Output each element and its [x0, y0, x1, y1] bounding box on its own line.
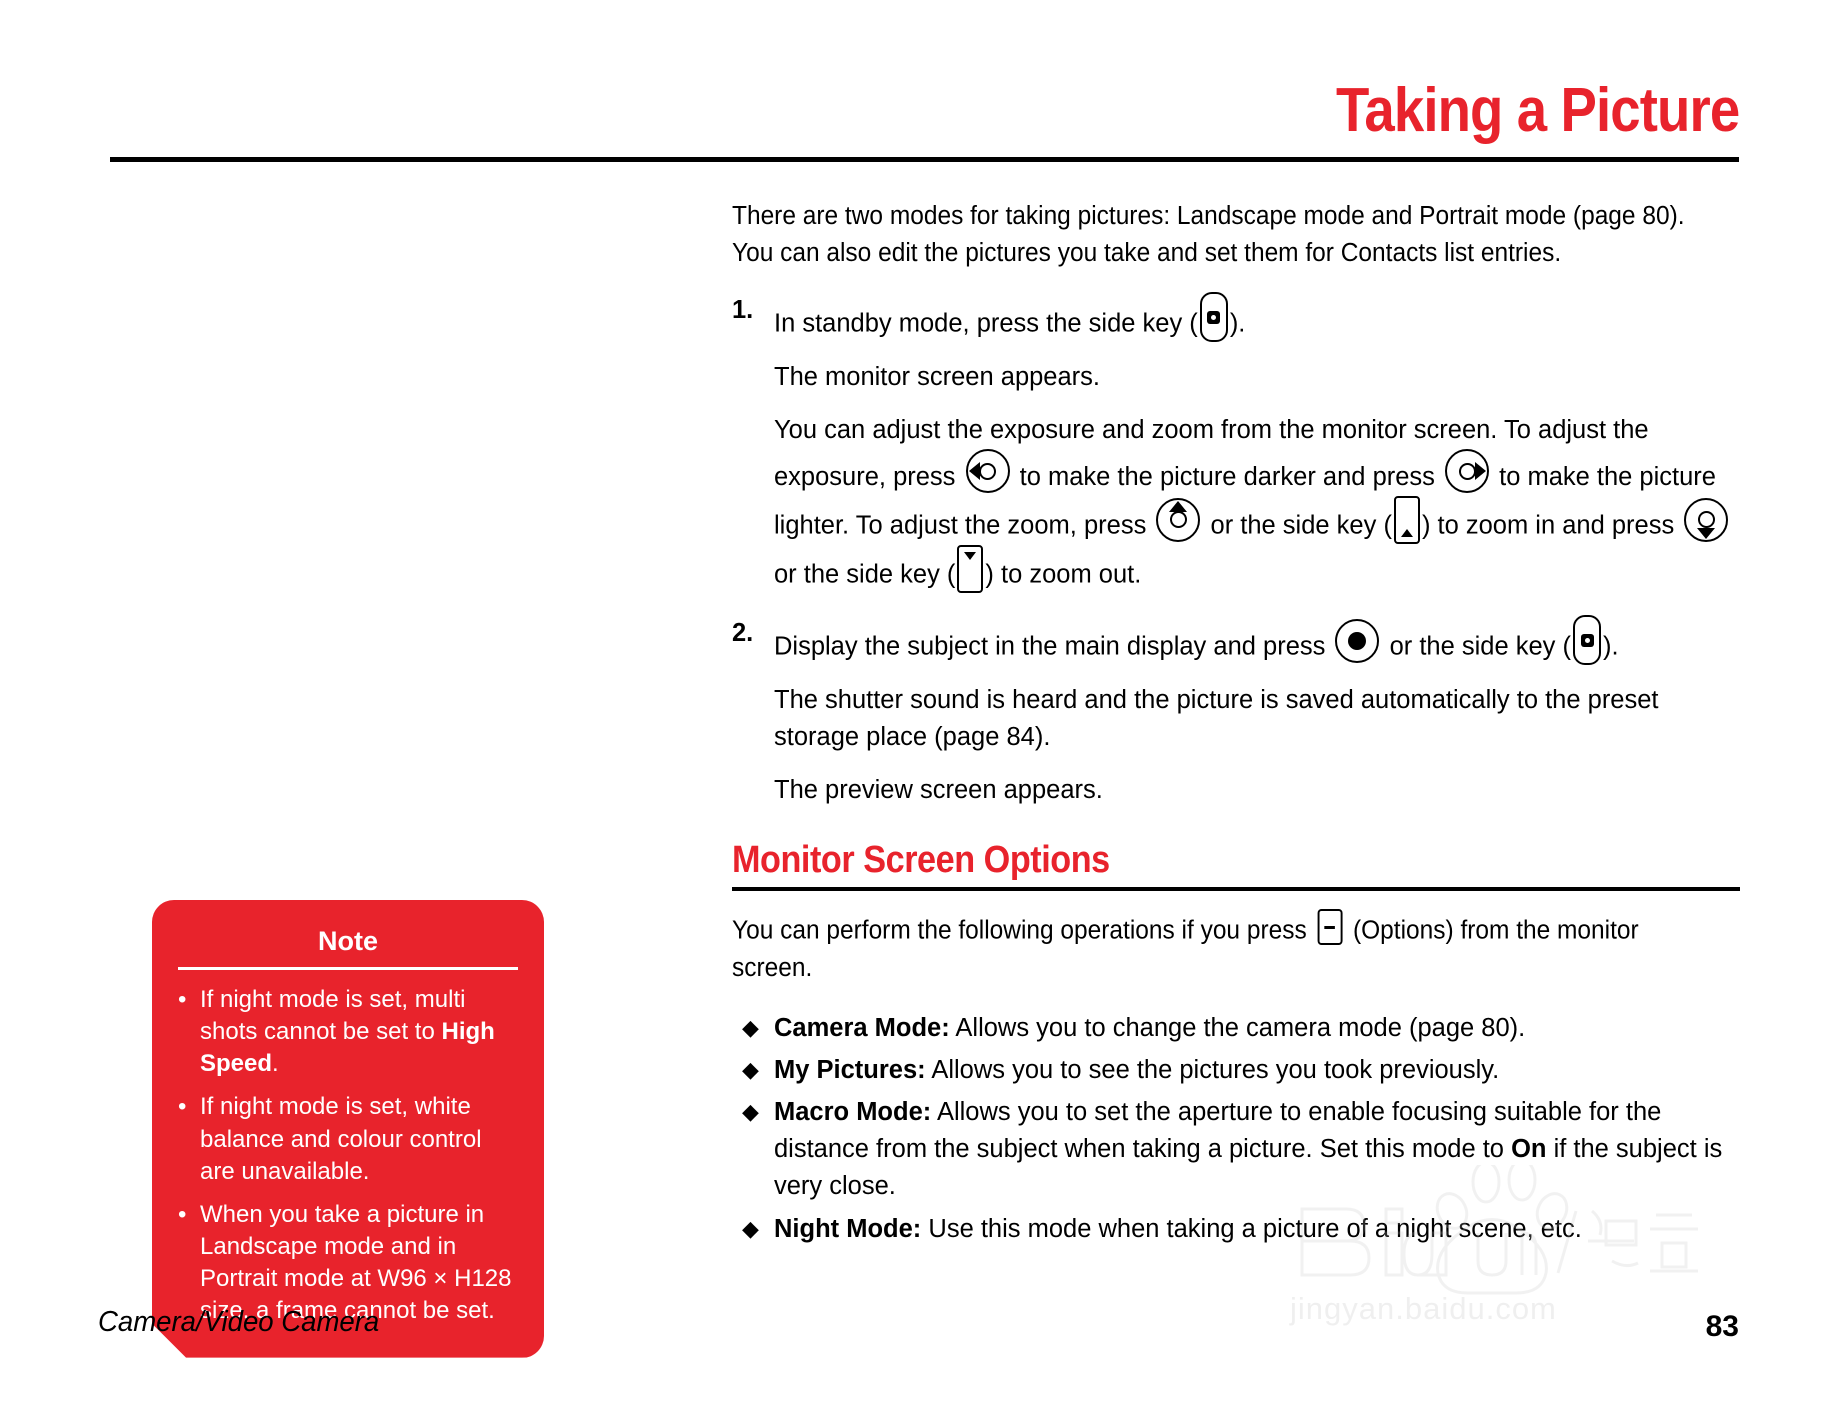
step-1-instruction: In standby mode, press the side key (). — [774, 292, 1740, 343]
option-item-camera-mode: ◆ Camera Mode: Allows you to change the … — [732, 1010, 1740, 1047]
section-intro: You can perform the following operations… — [732, 909, 1700, 987]
step-1: 1. In standby mode, press the side key (… — [732, 292, 1740, 593]
footer-page-number: 83 — [1706, 1310, 1739, 1344]
option-term-macro-mode: Macro Mode: — [774, 1098, 931, 1126]
step-2-result-1: The shutter sound is heard and the pictu… — [774, 682, 1740, 756]
note-title: Note — [178, 926, 518, 957]
step-2: 2. Display the subject in the main displ… — [732, 615, 1740, 809]
step-2-number: 2. — [732, 615, 774, 652]
note-list-item: • If night mode is set, white balance an… — [178, 1091, 518, 1187]
detail-seg-d: or the side key ( — [1211, 512, 1392, 540]
step-1-number: 1. — [732, 292, 774, 329]
step-2-instruction: Display the subject in the main display … — [774, 615, 1740, 666]
bullet-dot-icon: • — [178, 1091, 200, 1123]
option-desc-my-pictures: Allows you to see the pictures you took … — [926, 1056, 1500, 1084]
note-item-1-text-a: If night mode is set, multi shots cannot… — [200, 986, 465, 1045]
header-divider — [110, 157, 1739, 162]
step-2-result-2: The preview screen appears. — [774, 772, 1740, 809]
bullet-dot-icon: • — [178, 1199, 200, 1231]
step-2-text-after: ). — [1603, 633, 1619, 661]
monitor-screen-options-list: ◆ Camera Mode: Allows you to change the … — [732, 1010, 1740, 1248]
manual-page: Taking a Picture There are two modes for… — [0, 0, 1824, 1404]
option-term-night-mode: Night Mode: — [774, 1215, 921, 1243]
bullet-dot-icon: • — [178, 984, 200, 1016]
detail-seg-e: ) to zoom in and press — [1422, 512, 1674, 540]
step-2-text-mid: or the side key ( — [1390, 633, 1571, 661]
options-soft-key-icon — [1317, 909, 1342, 945]
note-item-2-text: If night mode is set, white balance and … — [200, 1091, 518, 1187]
nav-left-key-icon — [966, 449, 1010, 493]
option-item-my-pictures: ◆ My Pictures: Allows you to see the pic… — [732, 1052, 1740, 1089]
intro-paragraph: There are two modes for taking pictures:… — [732, 198, 1700, 272]
option-value-on: On — [1511, 1135, 1546, 1163]
step-2-text-before: Display the subject in the main display … — [774, 633, 1325, 661]
note-list-item: • If night mode is set, multi shots cann… — [178, 984, 518, 1080]
main-content-column: There are two modes for taking pictures:… — [732, 198, 1740, 1253]
nav-up-key-icon — [1156, 498, 1200, 542]
side-key-zoom-in-icon — [1394, 496, 1420, 544]
section-divider — [732, 887, 1740, 891]
section-intro-before: You can perform the following operations… — [732, 917, 1307, 945]
step-1-text-after: ). — [1230, 310, 1246, 338]
diamond-bullet-icon: ◆ — [732, 1010, 774, 1046]
option-term-camera-mode: Camera Mode: — [774, 1014, 950, 1042]
detail-seg-f: or the side key ( — [774, 560, 955, 588]
option-term-my-pictures: My Pictures: — [774, 1056, 926, 1084]
diamond-bullet-icon: ◆ — [732, 1052, 774, 1088]
option-item-macro-mode: ◆ Macro Mode: Allows you to set the aper… — [732, 1094, 1740, 1206]
note-divider — [178, 967, 518, 970]
diamond-bullet-icon: ◆ — [732, 1094, 774, 1130]
option-desc-night-mode: Use this mode when taking a picture of a… — [921, 1215, 1582, 1243]
side-key-icon — [1573, 615, 1601, 665]
nav-down-key-icon — [1684, 498, 1728, 542]
option-desc-camera-mode: Allows you to change the camera mode (pa… — [950, 1014, 1526, 1042]
diamond-bullet-icon: ◆ — [732, 1211, 774, 1247]
section-heading: Monitor Screen Options — [732, 840, 1639, 882]
watermark-url: jingyan.baidu.com — [1290, 1291, 1557, 1327]
detail-seg-b: to make the picture darker and press — [1020, 463, 1435, 491]
side-key-zoom-out-icon — [957, 545, 983, 593]
detail-seg-g: ) to zoom out. — [985, 560, 1141, 588]
side-key-icon — [1200, 292, 1228, 342]
note-list: • If night mode is set, multi shots cann… — [178, 984, 518, 1328]
step-1-detail: You can adjust the exposure and zoom fro… — [774, 412, 1740, 593]
footer-section-label: Camera/Video Camera — [98, 1306, 379, 1339]
note-item-1-text-b: . — [272, 1050, 279, 1077]
center-key-icon — [1335, 619, 1379, 663]
note-callout-box: Note • If night mode is set, multi shots… — [152, 900, 544, 1358]
step-1-result: The monitor screen appears. — [774, 359, 1740, 396]
nav-right-key-icon — [1445, 449, 1489, 493]
page-title: Taking a Picture — [1336, 78, 1739, 143]
option-item-night-mode: ◆ Night Mode: Use this mode when taking … — [732, 1211, 1740, 1248]
step-1-text-before: In standby mode, press the side key ( — [774, 310, 1198, 338]
